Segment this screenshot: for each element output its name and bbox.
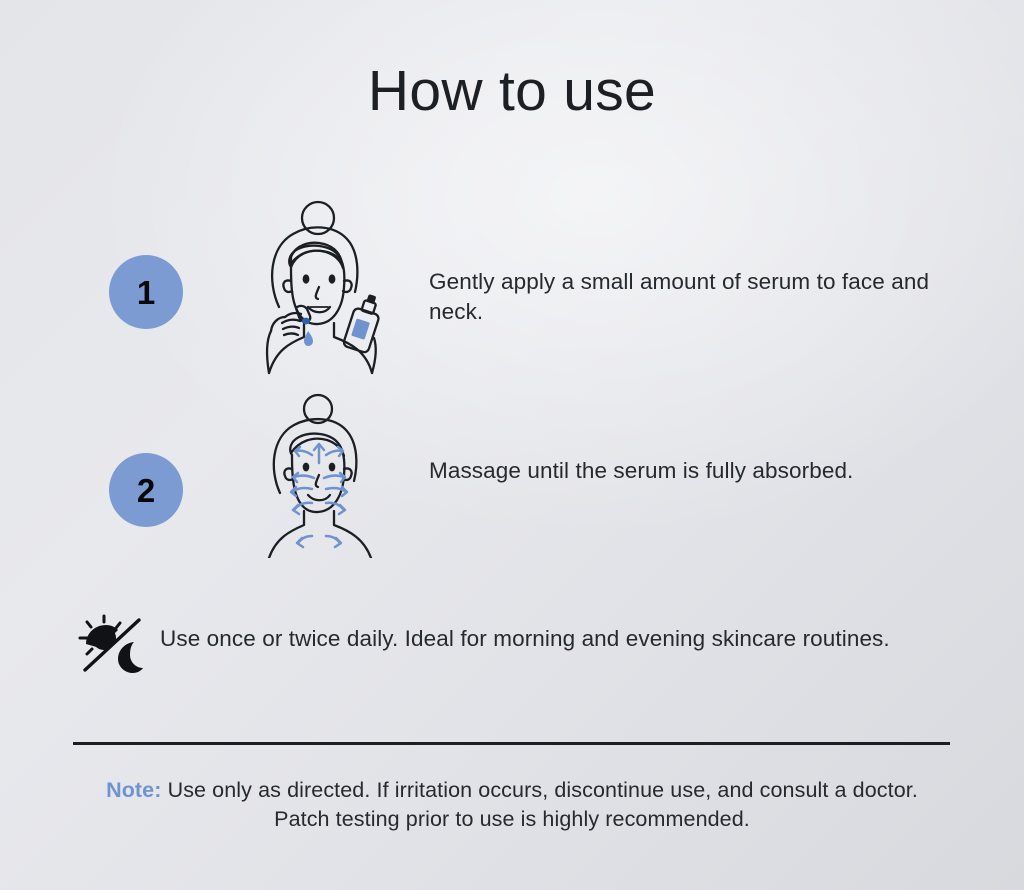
note-label: Note: (106, 778, 161, 802)
step-2-illustration (238, 393, 398, 563)
frequency-row: Use once or twice daily. Ideal for morni… (76, 608, 976, 680)
step-1-number: 1 (137, 276, 155, 309)
step-1-row: 1 (0, 195, 1024, 375)
step-2-badge: 2 (109, 453, 183, 527)
step-2-text: Massage until the serum is fully absorbe… (429, 456, 949, 486)
step-2-row: 2 (0, 393, 1024, 573)
step-1-illustration (238, 195, 398, 380)
frequency-text: Use once or twice daily. Ideal for morni… (160, 626, 890, 652)
note-line-2: Patch testing prior to use is highly rec… (0, 805, 1024, 834)
note-line-1-text: Use only as directed. If irritation occu… (162, 778, 918, 802)
footer-note: Note: Use only as directed. If irritatio… (0, 776, 1024, 833)
section-divider (73, 742, 950, 745)
step-2-number: 2 (137, 474, 155, 507)
step-1-badge: 1 (109, 255, 183, 329)
sun-moon-icon (76, 612, 148, 679)
note-line-1: Note: Use only as directed. If irritatio… (0, 776, 1024, 805)
page-title: How to use (0, 60, 1024, 123)
step-1-text: Gently apply a small amount of serum to … (429, 267, 949, 326)
how-to-use-poster: How to use 1 (0, 0, 1024, 890)
